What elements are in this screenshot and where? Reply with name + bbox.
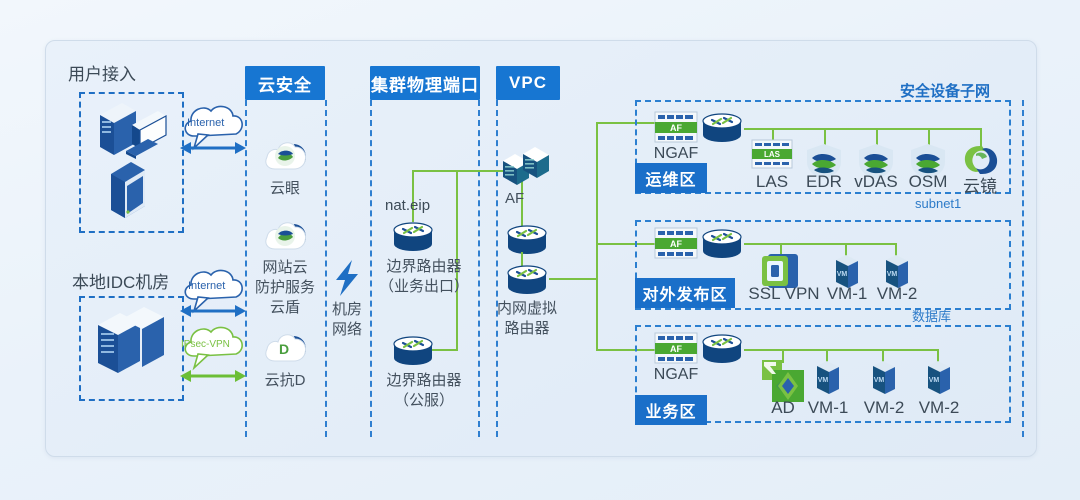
af-appliance-icon-publish: AF xyxy=(655,228,697,258)
svg-text:LAS: LAS xyxy=(764,150,781,159)
vm-icon-business-3: VM xyxy=(924,360,954,398)
label-cloud-shield-line2: 防护服务 xyxy=(255,276,315,297)
label-database: 数据库 xyxy=(912,306,951,325)
label-ipsec-vpn: IPsec-VPN xyxy=(181,339,230,350)
zone-badge-business[interactable]: 业务区 xyxy=(635,395,707,425)
svg-text:AF: AF xyxy=(670,123,682,133)
badge-cluster-port[interactable]: 集群物理端口 xyxy=(370,66,480,100)
separator-cloud-security-right xyxy=(325,100,327,437)
label-router-public-line2: （公服） xyxy=(394,389,454,410)
label-yunjing: 云镜 xyxy=(963,172,997,197)
svg-text:AF: AF xyxy=(670,344,682,354)
label-cloud-shield-line1: 网站云 xyxy=(262,256,307,277)
router-zone-publish-icon[interactable] xyxy=(700,226,744,260)
cloud-eye-icon xyxy=(263,138,309,172)
zone-badge-publish[interactable]: 对外发布区 xyxy=(635,278,735,308)
label-vm1-business: VM-1 xyxy=(808,398,849,418)
line-ops-bus xyxy=(744,128,982,130)
label-internet-top: Internet xyxy=(187,117,224,129)
router-vpc-upper-icon[interactable] xyxy=(505,222,549,256)
lightning-icon xyxy=(330,258,364,298)
label-router-business-line2: （业务出口） xyxy=(379,275,469,296)
line-nat-vertical xyxy=(412,170,414,222)
separator-cluster-right xyxy=(478,100,480,437)
label-subnet1: subnet1 xyxy=(915,196,961,211)
svg-text:VM: VM xyxy=(887,271,898,278)
label-datacenter-network-line2: 网络 xyxy=(332,318,362,339)
label-vm1-publish: VM-1 xyxy=(827,284,868,304)
line-publish-bus xyxy=(744,243,896,245)
svg-text:AF: AF xyxy=(670,239,682,249)
label-vpc-router-line1: 内网虚拟 xyxy=(497,297,557,318)
router-border-business-icon[interactable] xyxy=(391,219,435,253)
label-router-business-line1: 边界路由器 xyxy=(386,255,461,276)
label-nat-eip: nat.eip xyxy=(385,197,430,214)
label-vpc-router-line2: 路由器 xyxy=(504,317,549,338)
badge-vpc[interactable]: VPC xyxy=(496,66,560,100)
separator-vpc-right xyxy=(1022,100,1024,437)
firewall-stack-icon xyxy=(499,145,553,189)
ad-icon xyxy=(762,360,804,402)
af-appliance-icon-ops: AF xyxy=(655,112,697,142)
label-vm2-business: VM-2 xyxy=(864,398,905,418)
mobile-phone-icon xyxy=(105,160,151,226)
zone-badge-ops[interactable]: 运维区 xyxy=(635,163,707,193)
label-ngaf-business: NGAF xyxy=(654,366,698,384)
cloud-d-icon: D xyxy=(263,330,309,364)
vm-icon-business-2: VM xyxy=(869,360,899,398)
svg-text:D: D xyxy=(279,341,289,357)
router-zone-ops-icon[interactable] xyxy=(700,110,744,144)
label-cloud-shield-line3: 云盾 xyxy=(270,296,300,317)
label-internet-bottom: Internet xyxy=(188,280,225,292)
label-datacenter-network-line1: 机房 xyxy=(332,298,362,319)
label-cloud-eye: 云眼 xyxy=(270,177,300,198)
label-ngaf-ops: NGAF xyxy=(654,145,698,163)
router-border-public-icon[interactable] xyxy=(391,333,435,367)
svg-text:VM: VM xyxy=(837,271,848,278)
title-security-subnet: 安全设备子网 xyxy=(900,80,990,101)
af-appliance-icon-business: AF xyxy=(655,333,697,363)
separator-cluster-left xyxy=(370,100,372,437)
title-local-idc: 本地IDC机房 xyxy=(72,268,169,293)
las-appliance-icon: LAS xyxy=(752,140,792,168)
line-zone-bus xyxy=(596,122,598,350)
router-vpc-lower-icon[interactable] xyxy=(505,262,549,296)
arrow-user-internet xyxy=(180,140,246,156)
router-zone-business-icon[interactable] xyxy=(700,331,744,365)
label-ssl-vpn: SSL VPN xyxy=(748,284,819,304)
line-vpc-to-bus xyxy=(549,278,597,280)
label-osm: OSM xyxy=(909,172,948,192)
label-vdas: vDAS xyxy=(854,172,897,192)
label-vm2-publish: VM-2 xyxy=(877,284,918,304)
label-vm3-business: VM-2 xyxy=(919,398,960,418)
arrow-idc-internet xyxy=(180,303,246,319)
vm-icon-business-1: VM xyxy=(813,360,843,398)
line-business-bus xyxy=(744,349,938,351)
label-router-public-line1: 边界路由器 xyxy=(386,369,461,390)
label-af: AF xyxy=(505,190,524,207)
cloud-shield-icon xyxy=(263,218,309,252)
svg-text:VM: VM xyxy=(874,377,885,384)
title-user-access: 用户接入 xyxy=(68,60,136,85)
label-las: LAS xyxy=(756,172,788,192)
svg-text:VM: VM xyxy=(818,377,829,384)
server-rack-icon xyxy=(92,305,172,389)
badge-cloud-security[interactable]: 云安全 xyxy=(245,66,325,100)
separator-vpc-left xyxy=(496,100,498,437)
label-edr: EDR xyxy=(806,172,842,192)
label-ad: AD xyxy=(771,398,795,418)
svg-text:VM: VM xyxy=(929,377,940,384)
arrow-idc-vpn xyxy=(180,368,246,384)
diagram-canvas: 云安全 集群物理端口 VPC 用户接入 xyxy=(0,0,1080,500)
label-cloud-anti-d: 云抗D xyxy=(265,369,306,390)
